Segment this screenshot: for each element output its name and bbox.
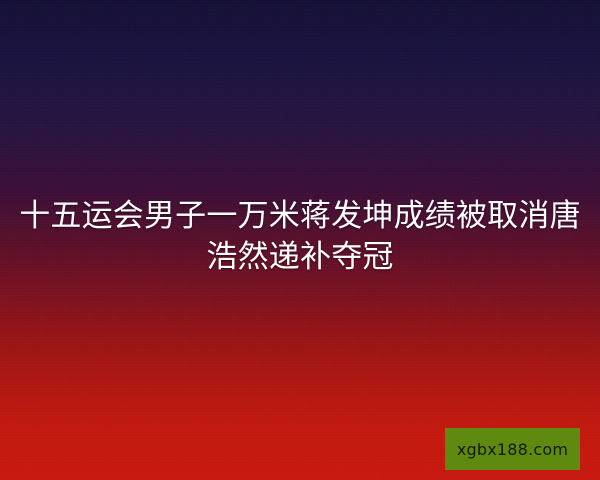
watermark-badge: xgbx188.com [445, 428, 580, 470]
headline-title: 十五运会男子一万米蒋发坤成绩被取消唐浩然递补夺冠 [0, 196, 600, 278]
article-cover-canvas: 十五运会男子一万米蒋发坤成绩被取消唐浩然递补夺冠 xgbx188.com [0, 0, 600, 480]
watermark-url-text: xgbx188.com [457, 440, 568, 459]
